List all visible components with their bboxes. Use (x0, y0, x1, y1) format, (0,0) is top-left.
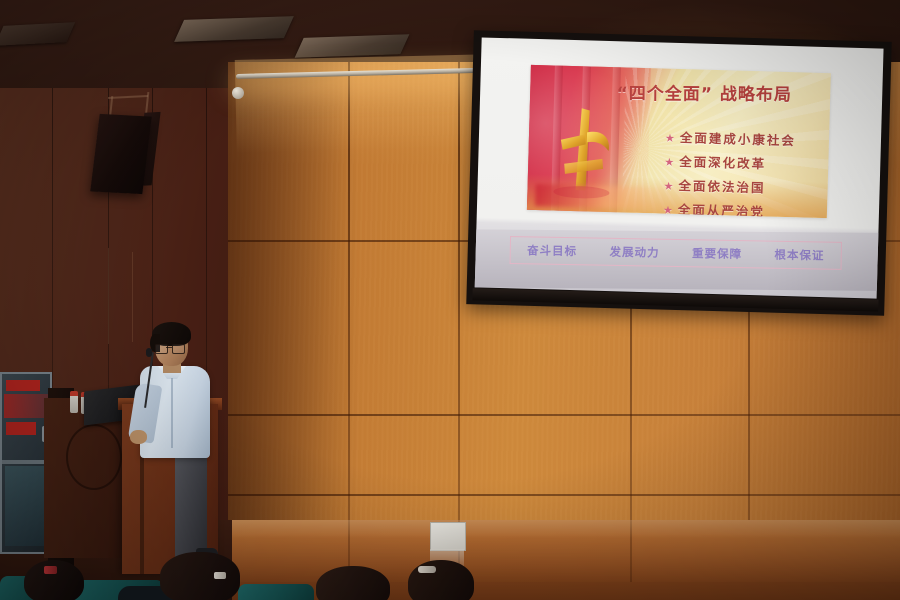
ceiling-vent-center-icon (174, 16, 294, 42)
lecture-hall-photo: “四个全面” 战略布局 ★全面建成小康社会 ★全面深化改革 ★全面依法治国 ★全… (0, 0, 900, 600)
bullet-text: 全面依法治国 (678, 178, 765, 195)
bullet-text: 全面深化改革 (679, 154, 766, 171)
cabinet-divider (2, 460, 50, 464)
audience-head (160, 552, 240, 600)
cabinet-label-text (4, 394, 48, 418)
list-item: ★全面从严治党 (663, 199, 831, 219)
caption-item: 奋斗目标 (527, 242, 577, 259)
caption-item: 根本保证 (774, 247, 824, 264)
slide-caption-bar: 奋斗目标 发展动力 重要保障 根本保证 (510, 236, 842, 270)
presenter-hand (130, 430, 147, 444)
wall-shadow (228, 62, 358, 532)
hair-clip-icon (214, 572, 226, 579)
list-item: ★全面建成小康社会 (665, 127, 831, 151)
star-icon: ★ (664, 156, 676, 169)
screen-surface: “四个全面” 战略布局 ★全面建成小康社会 ★全面深化改革 ★全面依法治国 ★全… (475, 37, 884, 298)
slide-poster-title: “四个全面” 战略布局 (582, 79, 826, 106)
audience-head (316, 566, 390, 600)
list-item: ★全面依法治国 (663, 175, 830, 199)
cabinet-red-sign (6, 380, 40, 391)
caption-item: 发展动力 (609, 244, 659, 261)
star-icon: ★ (663, 204, 675, 217)
slide-poster-image: “四个全面” 战略布局 ★全面建成小康社会 ★全面深化改革 ★全面依法治国 ★全… (527, 65, 831, 218)
hair-clip-icon (418, 566, 436, 573)
microphone-icon (146, 348, 152, 357)
projection-screen: “四个全面” 战略布局 ★全面建成小康社会 ★全面深化改革 ★全面依法治国 ★全… (466, 30, 891, 316)
light-rail-end-cap-icon (232, 87, 244, 99)
caption-item: 重要保障 (692, 245, 742, 262)
list-item: ★全面深化改革 (664, 151, 831, 175)
ceiling-vent-left-icon (0, 22, 75, 46)
podium-emblem-outline (66, 424, 122, 490)
ceiling-vent-right-icon (295, 34, 410, 58)
slide-bullet-list: ★全面建成小康社会 ★全面深化改革 ★全面依法治国 ★全面从严治党 (623, 125, 831, 218)
star-icon: ★ (665, 132, 677, 145)
bullet-text: 全面从严治党 (678, 202, 765, 218)
glasses-icon (155, 344, 185, 352)
water-bottle-icon (70, 391, 78, 413)
cabinet-glass-panel (5, 466, 45, 546)
loudspeaker-icon (90, 114, 152, 194)
star-icon: ★ (663, 180, 675, 193)
presenter-shirt-placket (171, 378, 173, 448)
bullet-text: 全面建成小康社会 (680, 130, 796, 148)
wall-plate-outlet-icon (430, 522, 466, 551)
audience-chair (238, 584, 314, 600)
hair-clip-icon (44, 566, 57, 574)
cabinet-red-sign (6, 422, 36, 435)
